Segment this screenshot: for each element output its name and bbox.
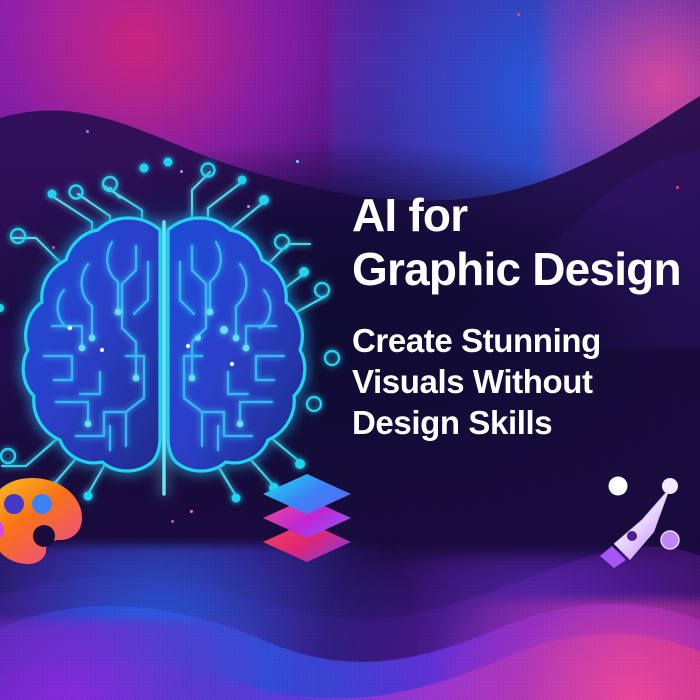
layers-icon <box>258 472 356 564</box>
circuit-brain-illustration <box>0 150 342 500</box>
page-title: AI for Graphic Design <box>352 188 700 296</box>
subhead-line-1: Create Stunning <box>352 320 700 361</box>
headline-line-1: AI for <box>352 188 700 242</box>
headline-line-2: Graphic Design <box>352 242 700 296</box>
subhead-line-2: Visuals Without <box>352 361 700 402</box>
subhead-line-3: Design Skills <box>352 402 700 443</box>
pen-tool-icon <box>596 468 690 568</box>
poster-text-block: AI for Graphic Design Create Stunning Vi… <box>352 188 700 443</box>
page-subtitle: Create Stunning Visuals Without Design S… <box>352 320 700 443</box>
palette-icon <box>0 470 90 570</box>
poster-canvas: AI for Graphic Design Create Stunning Vi… <box>0 0 700 700</box>
